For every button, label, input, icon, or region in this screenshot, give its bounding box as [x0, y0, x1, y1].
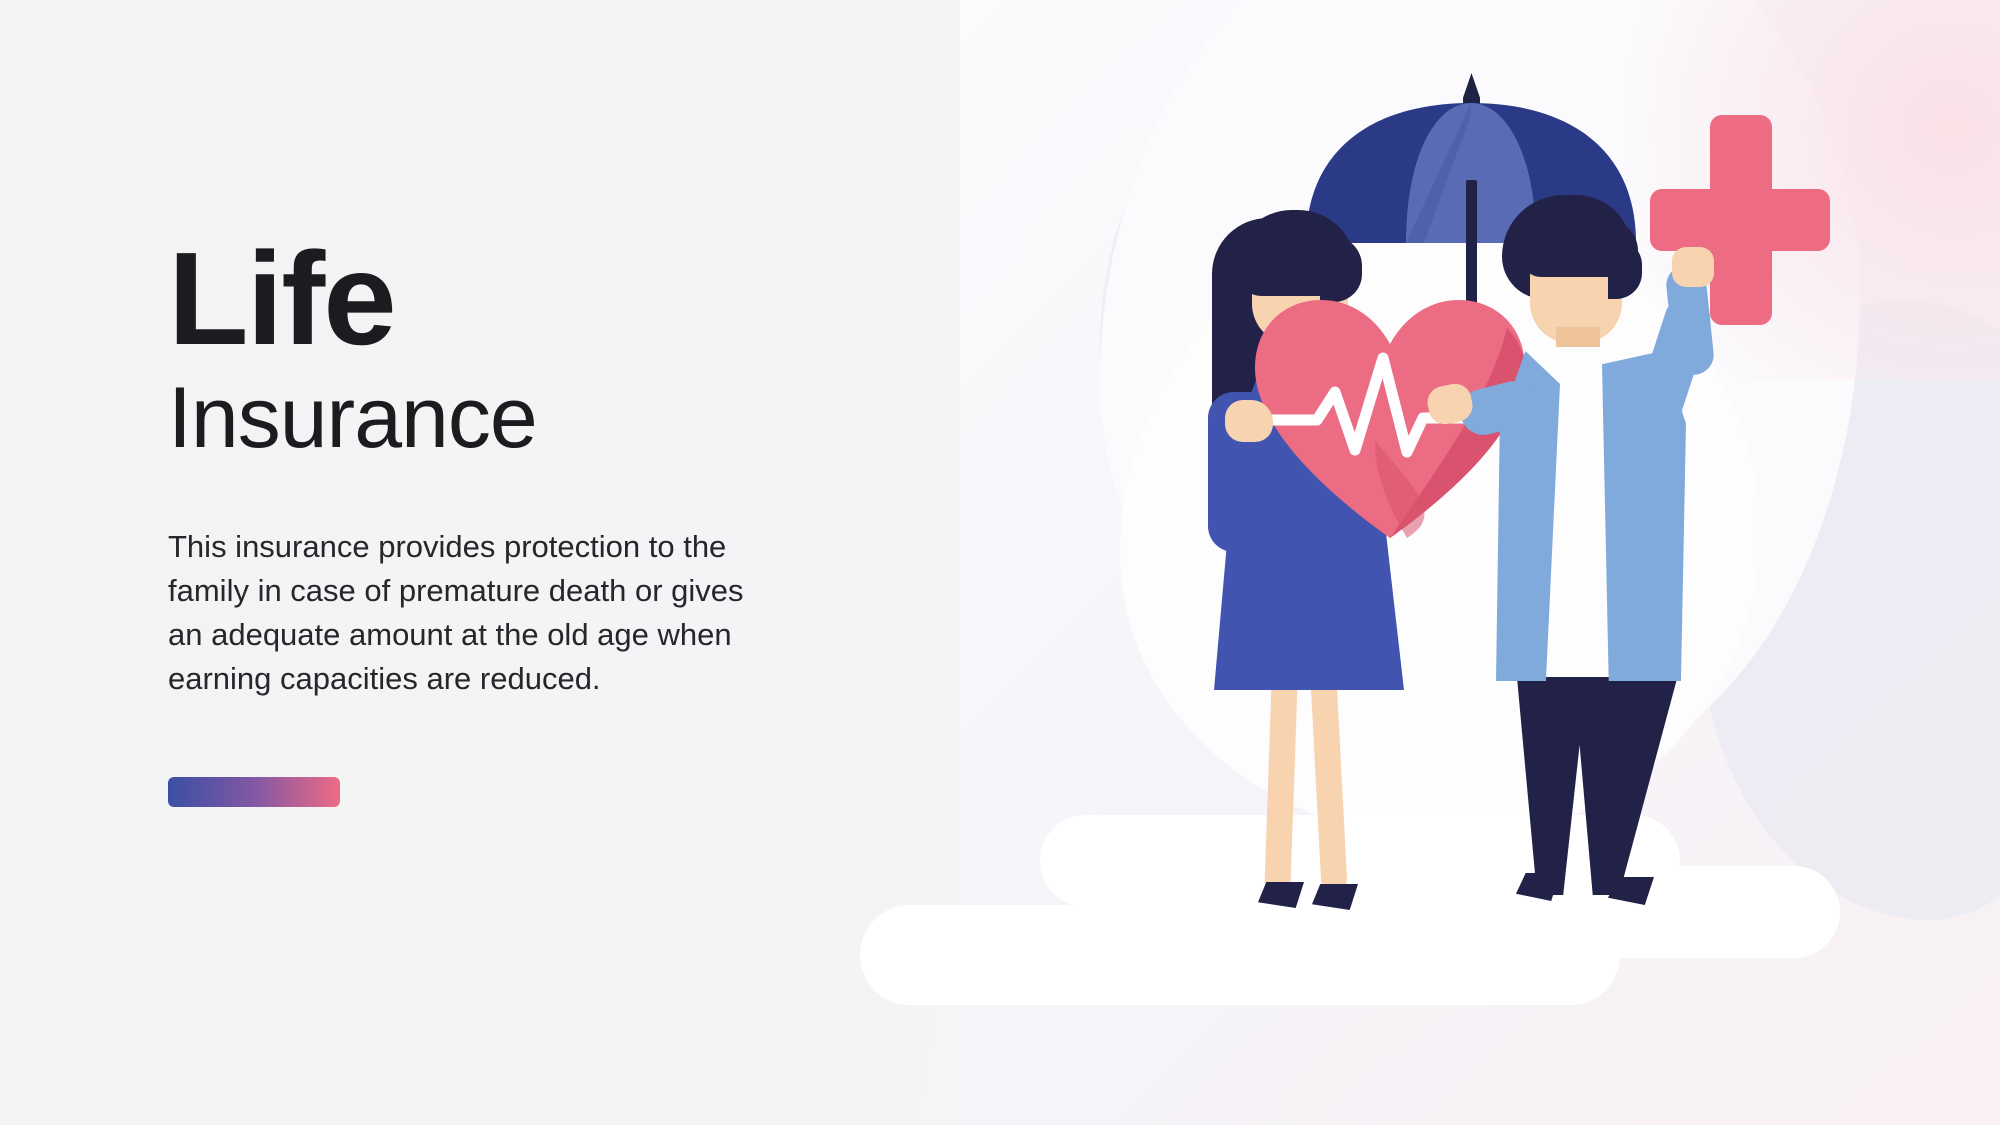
woman-hair-side: [1320, 236, 1362, 302]
cta-gradient-bar[interactable]: [168, 777, 340, 807]
man-hand-raised: [1672, 247, 1714, 287]
woman-shoe-right: [1312, 884, 1358, 910]
life-insurance-banner: Life Insurance This insurance provides p…: [0, 0, 2000, 1125]
page-subtitle: Insurance: [168, 375, 928, 461]
page-title: Life: [168, 236, 928, 363]
woman-leg-left: [1264, 680, 1297, 891]
illustration-stage: [1050, 0, 2000, 1125]
woman-leg-right: [1311, 679, 1348, 888]
woman-shoe-left: [1258, 882, 1304, 908]
text-column: Life Insurance This insurance provides p…: [168, 236, 928, 807]
ground-cloud: [860, 905, 1620, 1005]
man-figure: [1480, 195, 1780, 915]
description-paragraph: This insurance provides protection to th…: [168, 525, 768, 701]
man-pants: [1514, 645, 1678, 895]
woman-hand: [1225, 400, 1273, 442]
man-shoe-left: [1516, 873, 1560, 901]
